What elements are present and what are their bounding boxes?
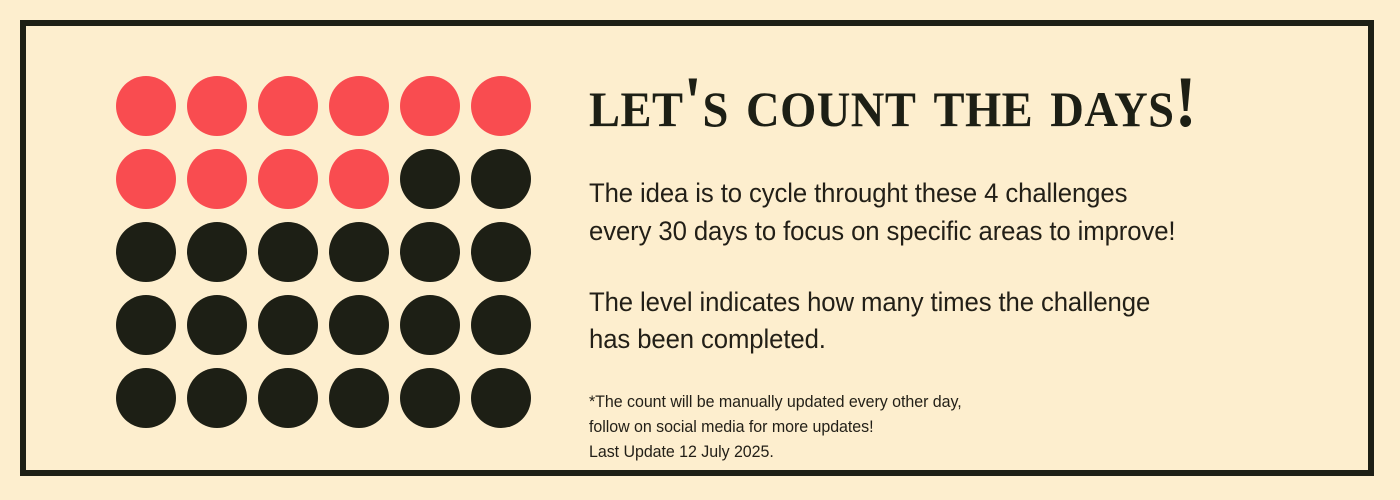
progress-dot-empty bbox=[329, 368, 389, 428]
progress-dot-empty bbox=[258, 222, 318, 282]
progress-dot-empty bbox=[471, 368, 531, 428]
level-paragraph: The level indicates how many times the c… bbox=[589, 284, 1307, 359]
level-line-1: The level indicates how many times the c… bbox=[589, 287, 1150, 317]
count-the-days-poster: Let's Count the Days! The idea is to cyc… bbox=[0, 0, 1400, 500]
intro-line-1: The idea is to cycle throught these 4 ch… bbox=[589, 178, 1127, 208]
text-content-column: Let's Count the Days! The idea is to cyc… bbox=[589, 68, 1329, 465]
progress-dot-empty bbox=[187, 222, 247, 282]
progress-dot-empty bbox=[329, 222, 389, 282]
progress-dot-filled bbox=[329, 149, 389, 209]
progress-dot-empty bbox=[400, 295, 460, 355]
page-title: Let's Count the Days! bbox=[589, 68, 1277, 136]
progress-dot-empty bbox=[400, 222, 460, 282]
progress-dot-filled bbox=[400, 76, 460, 136]
progress-dot-filled bbox=[258, 76, 318, 136]
intro-paragraph: The idea is to cycle throught these 4 ch… bbox=[589, 175, 1307, 250]
progress-dot-filled bbox=[258, 149, 318, 209]
intro-line-2: every 30 days to focus on specific areas… bbox=[589, 216, 1175, 246]
progress-dot-filled bbox=[116, 149, 176, 209]
progress-dot-filled bbox=[471, 76, 531, 136]
progress-dot-empty bbox=[329, 295, 389, 355]
footnote-line-3: Last Update 12 July 2025. bbox=[589, 440, 1307, 465]
progress-dot-filled bbox=[187, 76, 247, 136]
progress-dot-empty bbox=[471, 295, 531, 355]
progress-dot-empty bbox=[187, 368, 247, 428]
progress-dot-filled bbox=[187, 149, 247, 209]
progress-dot-empty bbox=[116, 368, 176, 428]
progress-dot-filled bbox=[116, 76, 176, 136]
progress-dot-filled bbox=[329, 76, 389, 136]
progress-dot-empty bbox=[258, 368, 318, 428]
progress-dot-grid bbox=[116, 76, 531, 428]
progress-dot-empty bbox=[400, 149, 460, 209]
progress-dot-empty bbox=[116, 295, 176, 355]
progress-dot-empty bbox=[471, 149, 531, 209]
footnote-line-1: *The count will be manually updated ever… bbox=[589, 390, 1307, 415]
progress-dot-empty bbox=[400, 368, 460, 428]
progress-dot-empty bbox=[258, 295, 318, 355]
level-line-2: has been completed. bbox=[589, 324, 826, 354]
footnote-line-2: follow on social media for more updates! bbox=[589, 415, 1307, 440]
progress-dot-empty bbox=[471, 222, 531, 282]
footnote-block: *The count will be manually updated ever… bbox=[589, 390, 1307, 465]
progress-dot-empty bbox=[116, 222, 176, 282]
progress-dot-empty bbox=[187, 295, 247, 355]
